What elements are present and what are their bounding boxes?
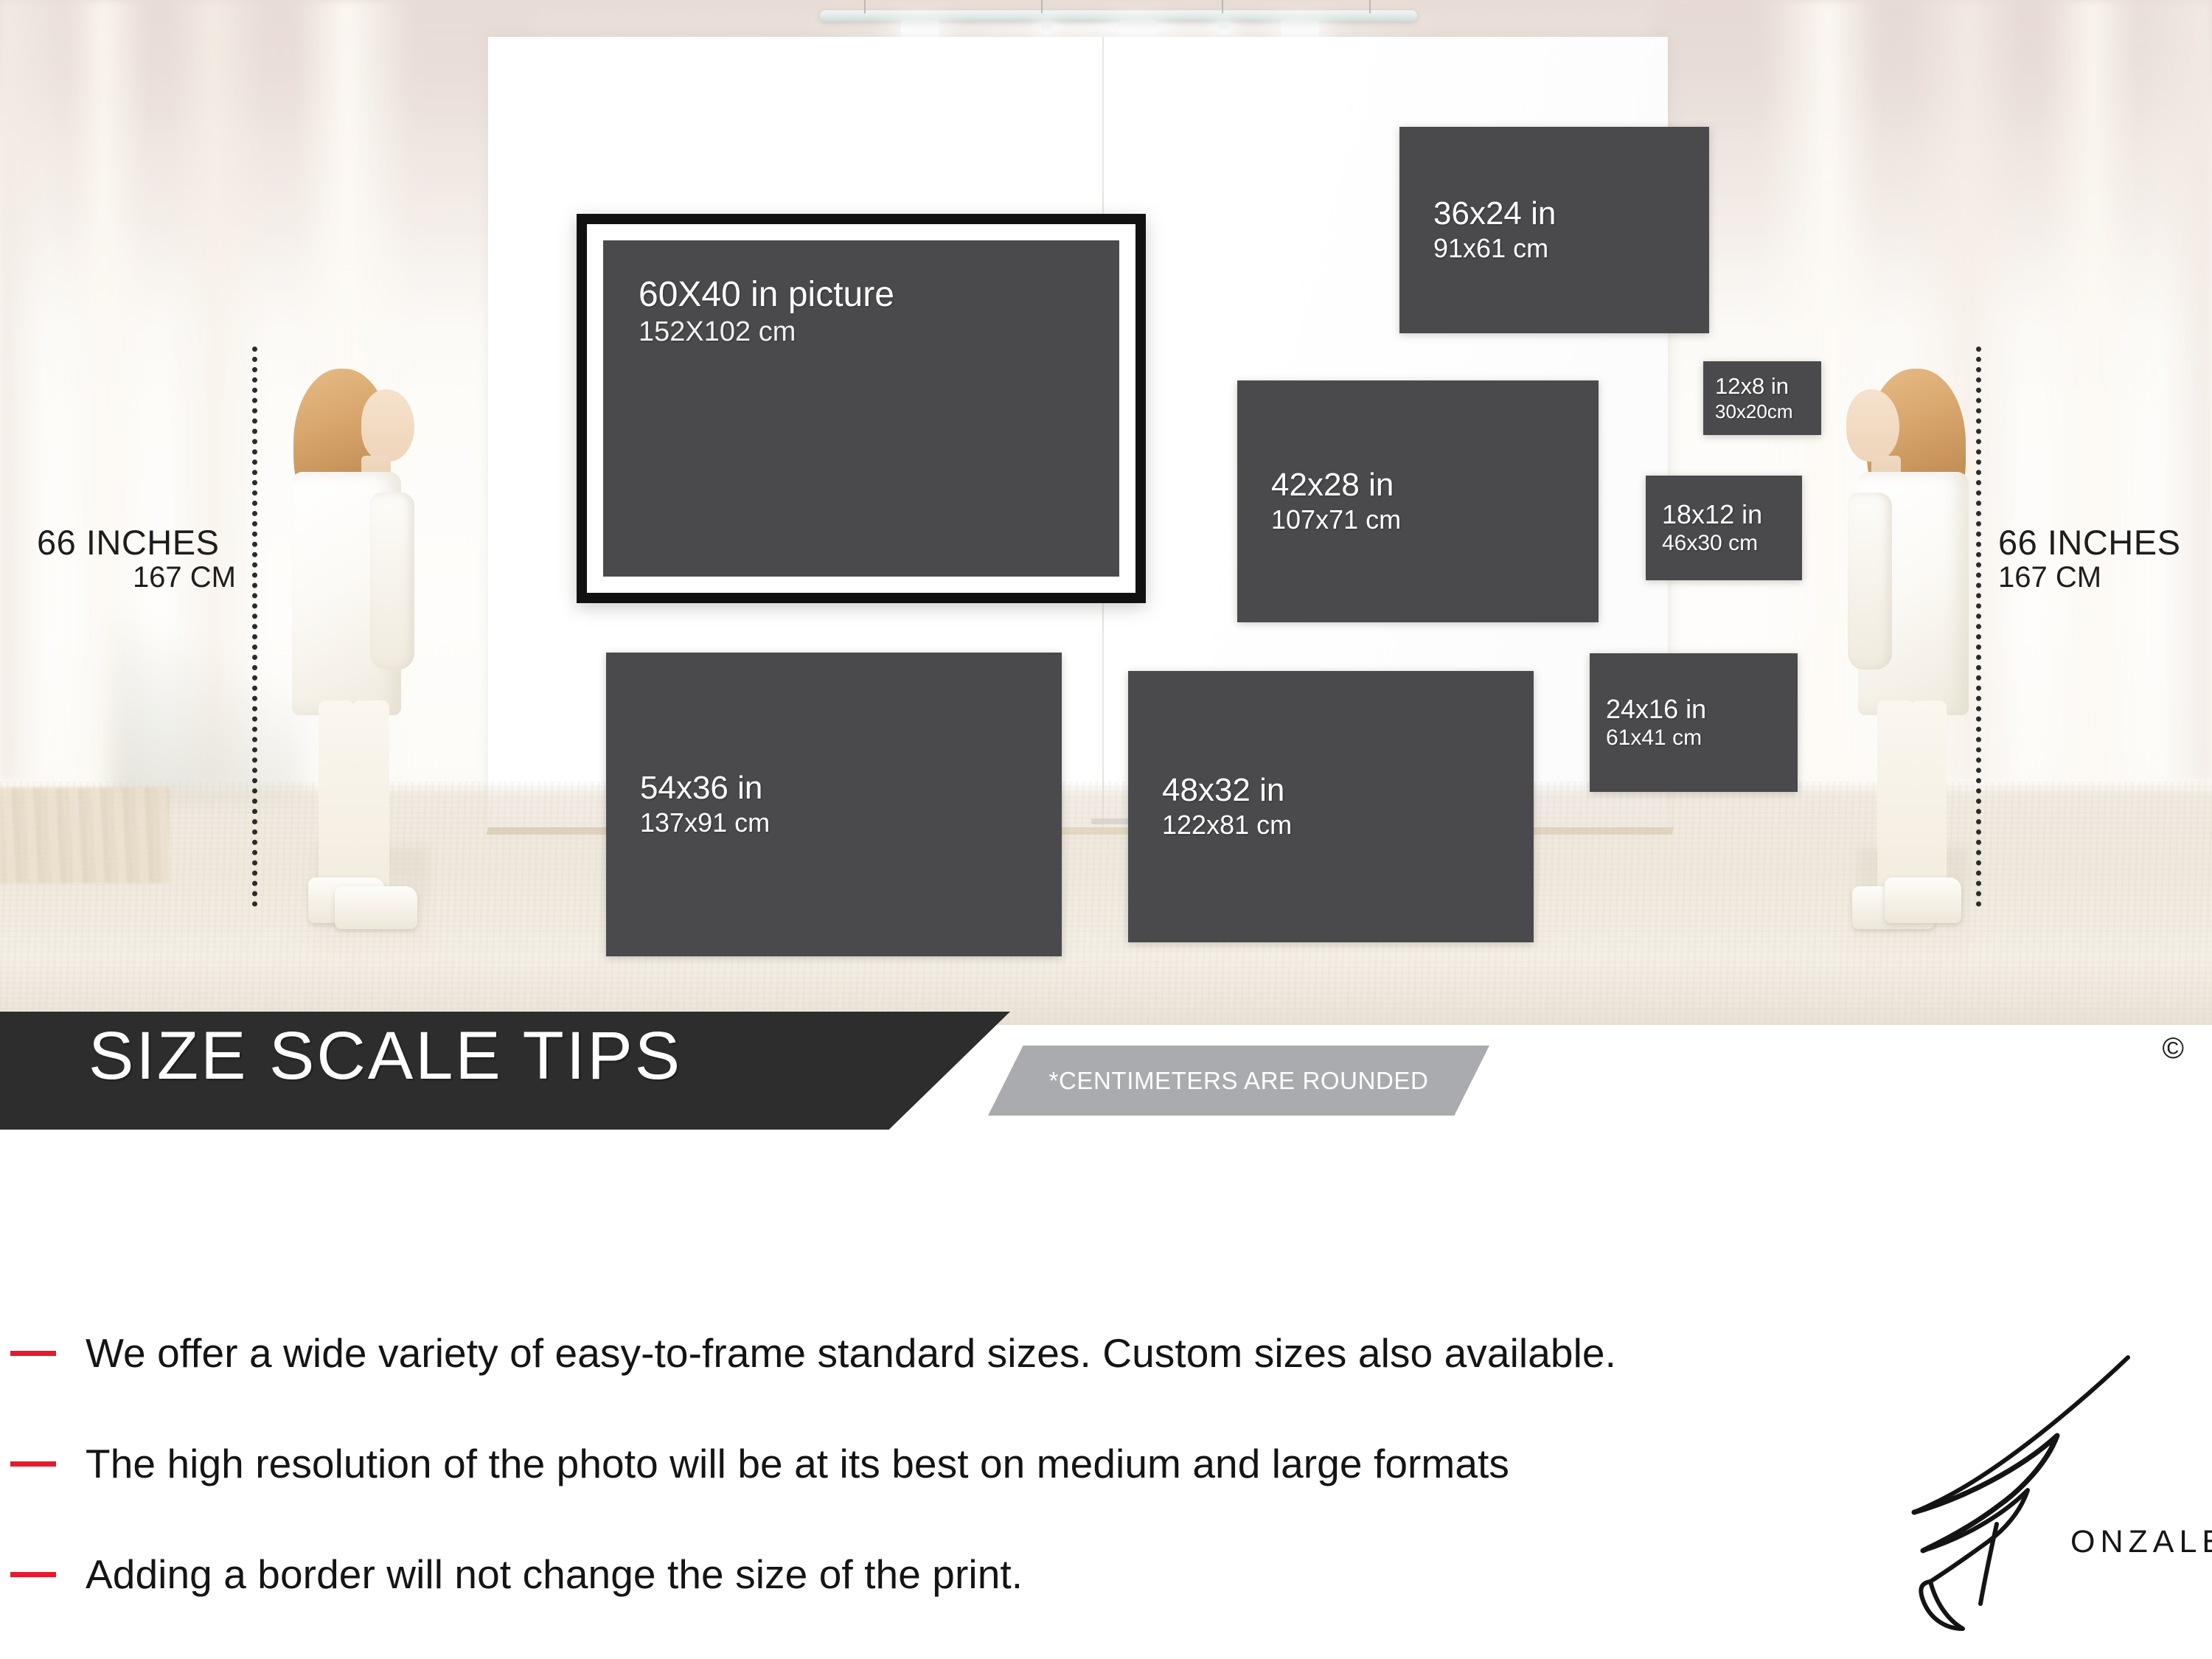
tips-list: We offer a wide variety of easy-to-frame… xyxy=(0,1298,2212,1630)
size-swatch-24x16-cm: 61x41 cm xyxy=(1606,726,1798,750)
size-scale-infographic: 66 INCHES 167 CM 66 INCHES 167 CM 60X40 … xyxy=(0,0,2212,1659)
brand-logo: ONZALEZ xyxy=(1910,1353,2205,1644)
size-swatch-48x32[interactable]: 48x32 in 122x81 cm xyxy=(1128,671,1534,942)
copyright-icon: © xyxy=(2163,1032,2184,1065)
frame-mat: 60X40 in picture 152X102 cm xyxy=(587,224,1135,593)
measurement-right-cm: 167 CM xyxy=(1998,560,2205,595)
g-monogram-icon xyxy=(1910,1353,2205,1644)
leg xyxy=(1877,700,1914,891)
rounded-note-badge: *CENTIMETERS ARE ROUNDED xyxy=(988,1046,1489,1116)
light-lamp-small xyxy=(1041,21,1053,34)
dash-icon xyxy=(10,1461,56,1467)
light-cord xyxy=(864,0,866,13)
light-lamp-small xyxy=(1218,21,1230,34)
leg xyxy=(319,700,354,891)
list-item: We offer a wide variety of easy-to-frame… xyxy=(0,1298,2212,1408)
size-swatch-12x8-inches: 12x8 in xyxy=(1715,375,1821,402)
size-swatch-54x36[interactable]: 54x36 in 137x91 cm xyxy=(606,653,1062,956)
size-swatch-48x32-inches: 48x32 in xyxy=(1162,773,1534,811)
leg xyxy=(1911,700,1947,891)
logo-wordmark: ONZALEZ xyxy=(2070,1524,2212,1560)
rounded-note-text: *CENTIMETERS ARE ROUNDED xyxy=(1049,1067,1429,1095)
size-swatch-48x32-cm: 122x81 cm xyxy=(1162,811,1534,840)
shoe xyxy=(1885,877,1961,923)
tip-text: We offer a wide variety of easy-to-frame… xyxy=(86,1329,1616,1377)
ceiling-light-fixture xyxy=(820,10,1417,21)
measurement-left: 66 INCHES 167 CM xyxy=(37,525,236,595)
face xyxy=(361,389,414,462)
size-swatch-60x40-cm: 152X102 cm xyxy=(639,315,894,350)
height-guide-right xyxy=(1976,347,1981,907)
face xyxy=(1846,389,1899,462)
measurement-right-inches: 66 INCHES xyxy=(1998,525,2205,560)
size-swatch-18x12[interactable]: 18x12 in 46x30 cm xyxy=(1646,476,1802,580)
size-swatch-42x28-cm: 107x71 cm xyxy=(1271,506,1599,535)
frame-artwork: 60X40 in picture 152X102 cm xyxy=(603,240,1119,577)
person-figure-left xyxy=(273,369,442,929)
size-swatch-12x8-cm: 30x20cm xyxy=(1715,401,1821,422)
size-swatch-36x24[interactable]: 36x24 in 91x61 cm xyxy=(1399,127,1709,333)
dash-icon xyxy=(10,1572,56,1577)
dash-icon xyxy=(10,1351,56,1356)
size-swatch-54x36-inches: 54x36 in xyxy=(640,771,1062,809)
gallery-scene: 66 INCHES 167 CM 66 INCHES 167 CM 60X40 … xyxy=(0,0,2212,1025)
banner-title: SIZE SCALE TIPS xyxy=(88,1022,682,1090)
list-item: Adding a border will not change the size… xyxy=(0,1519,2212,1630)
size-swatch-42x28[interactable]: 42x28 in 107x71 cm xyxy=(1237,380,1599,622)
person-figure-right xyxy=(1821,369,1991,929)
size-swatch-18x12-inches: 18x12 in xyxy=(1662,501,1802,532)
measurement-right: 66 INCHES 167 CM xyxy=(1998,525,2205,595)
size-swatch-24x16[interactable]: 24x16 in 61x41 cm xyxy=(1590,653,1798,792)
size-swatch-24x16-inches: 24x16 in xyxy=(1606,695,1798,726)
size-swatch-60x40-frame[interactable]: 60X40 in picture 152X102 cm xyxy=(577,214,1146,603)
tip-text: The high resolution of the photo will be… xyxy=(86,1440,1509,1487)
height-guide-left xyxy=(252,347,257,907)
shoe xyxy=(335,886,417,929)
size-swatch-60x40-inches: 60X40 in picture xyxy=(639,276,894,315)
size-swatch-36x24-cm: 91x61 cm xyxy=(1433,234,1709,263)
size-swatch-18x12-cm: 46x30 cm xyxy=(1662,532,1802,555)
size-swatch-12x8[interactable]: 12x8 in 30x20cm xyxy=(1703,361,1821,435)
tip-text: Adding a border will not change the size… xyxy=(86,1551,1023,1598)
measurement-left-cm: 167 CM xyxy=(37,560,236,595)
sleeve xyxy=(1848,493,1892,669)
light-cord xyxy=(1222,0,1223,13)
size-swatch-42x28-inches: 42x28 in xyxy=(1271,468,1599,506)
size-swatch-54x36-cm: 137x91 cm xyxy=(640,809,1062,838)
size-swatch-36x24-inches: 36x24 in xyxy=(1433,197,1709,234)
light-cord xyxy=(1369,0,1371,13)
sleeve xyxy=(370,493,414,669)
measurement-left-inches: 66 INCHES xyxy=(37,525,236,560)
floor-wood-strip xyxy=(0,787,170,883)
list-item: The high resolution of the photo will be… xyxy=(0,1408,2212,1519)
light-cord xyxy=(1041,0,1043,13)
leg xyxy=(352,700,389,891)
